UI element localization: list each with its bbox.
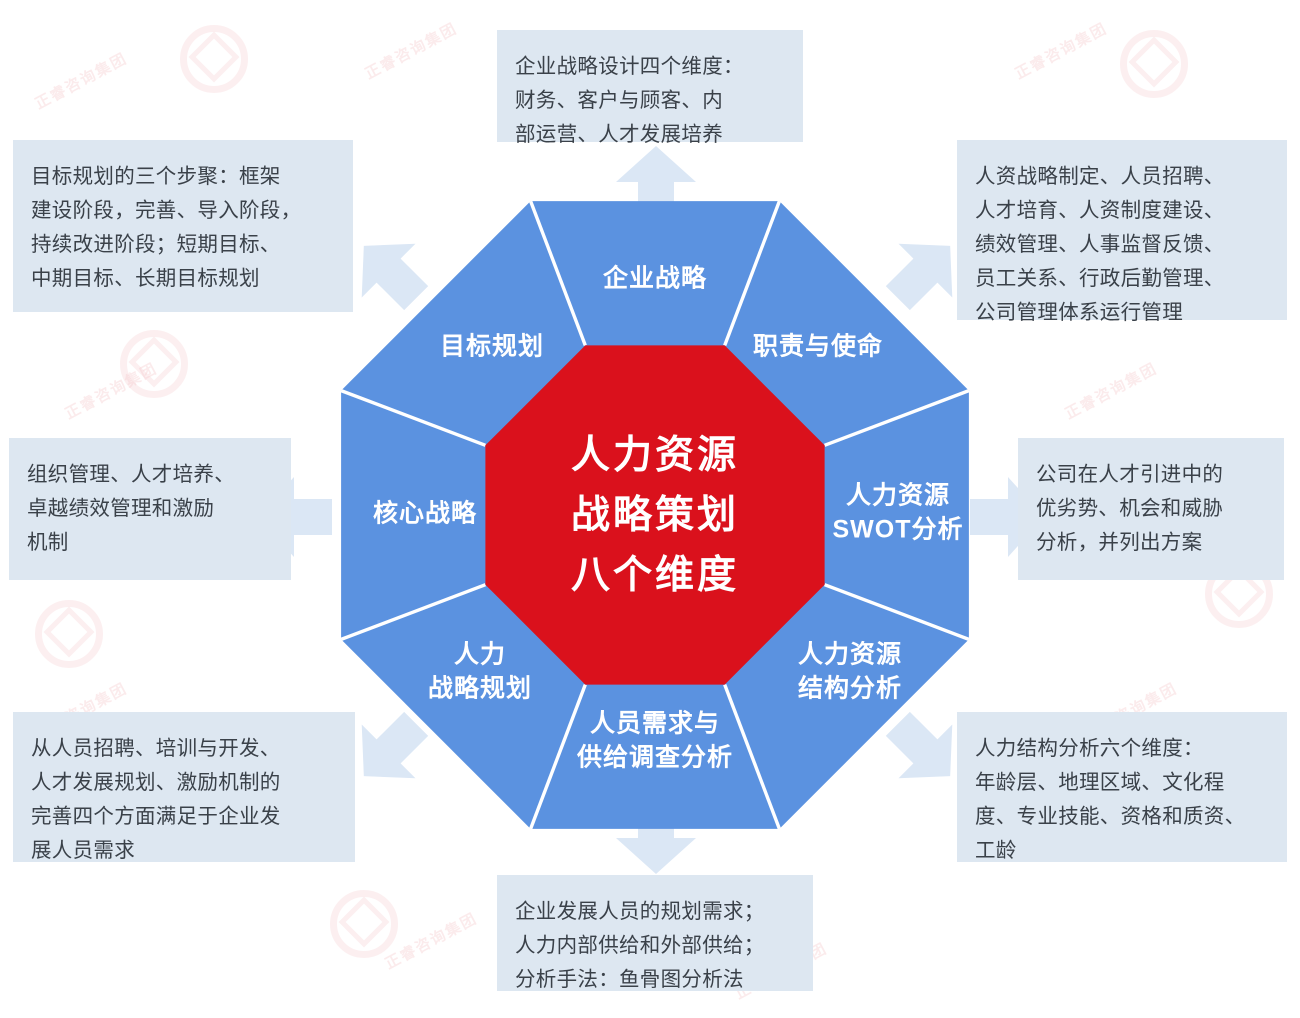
watermark-text: 正睿咨询集团 — [1011, 17, 1111, 83]
callout-hr-swot-analysis: 公司在人才引进中的 优劣势、机会和威胁 分析，并列出方案 — [1018, 438, 1284, 580]
segment-label-core-strategy: 核心战略 — [373, 499, 477, 528]
watermark-ring — [120, 330, 188, 398]
callout-core-strategy: 组织管理、人才培养、 卓越绩效管理和激励 机制 — [9, 438, 291, 580]
watermark-square — [339, 897, 390, 948]
watermark-text: 正睿咨询集团 — [61, 357, 161, 423]
svg-text:人员需求与: 人员需求与 — [590, 710, 720, 738]
callout-duty-and-mission: 人资战略制定、人员招聘、 人才培育、人资制度建设、 绩效管理、人事监督反馈、 员… — [957, 140, 1287, 320]
callout-goal-planning: 目标规划的三个步聚：框架 建设阶段，完善、导入阶段， 持续改进阶段；短期目标、 … — [13, 140, 353, 312]
watermark-ring — [330, 890, 398, 958]
callout-hr-structure-analysis: 人力结构分析六个维度： 年龄层、地理区域、文化程 度、专业技能、资格和质资、 工… — [957, 712, 1287, 862]
watermark-text: 正睿咨询集团 — [1061, 357, 1161, 423]
watermark-ring — [35, 600, 103, 668]
svg-text:人力资源: 人力资源 — [798, 641, 902, 669]
svg-text:人力资源: 人力资源 — [846, 482, 950, 510]
watermark-square — [44, 607, 95, 658]
svg-text:八个维度: 八个维度 — [571, 554, 739, 597]
svg-text:人力资源: 人力资源 — [571, 434, 739, 477]
watermark-ring — [180, 25, 248, 93]
watermark-square — [1129, 37, 1180, 88]
callout-demand-supply-survey: 企业发展人员的规划需求； 人力内部供给和外部供给； 分析手法：鱼骨图分析法 — [497, 875, 813, 991]
svg-text:结构分析: 结构分析 — [798, 675, 902, 703]
svg-text:SWOT分析: SWOT分析 — [833, 516, 964, 544]
svg-text:战略规划: 战略规划 — [428, 674, 532, 703]
segment-label-enterprise-strategy: 企业战略 — [603, 264, 707, 293]
watermark-text: 正睿咨询集团 — [381, 907, 481, 973]
svg-text:供给调查分析: 供给调查分析 — [576, 743, 733, 772]
octagon-wheel: 企业战略 职责与使命 人力资源 SWOT分析 人力资源 结构分析 人员需求与 供… — [330, 190, 980, 840]
segment-label-goal-planning: 目标规划 — [440, 333, 544, 361]
segment-label-duty-and-mission: 职责与使命 — [753, 332, 883, 361]
callout-enterprise-strategy: 企业战略设计四个维度： 财务、客户与顾客、内 部运营、人才发展培养 — [497, 30, 803, 142]
watermark-text: 正睿咨询集团 — [31, 47, 131, 113]
watermark-square — [189, 32, 240, 83]
callout-hr-strategic-planning: 从人员招聘、培训与开发、 人才发展规划、激励机制的 完善四个方面满足于企业发 展… — [13, 712, 355, 862]
watermark-square — [129, 337, 180, 388]
svg-text:人力: 人力 — [454, 641, 506, 669]
watermark-ring — [1120, 30, 1188, 98]
svg-text:战略策划: 战略策划 — [571, 494, 739, 537]
core-title: 人力资源 战略策划 八个维度 — [571, 434, 739, 597]
watermark-text: 正睿咨询集团 — [361, 17, 461, 83]
diagram-canvas: 正睿咨询集团 正睿咨询集团 正睿咨询集团 正睿咨询集团 正睿咨询集团 正睿咨询集… — [0, 0, 1300, 1018]
